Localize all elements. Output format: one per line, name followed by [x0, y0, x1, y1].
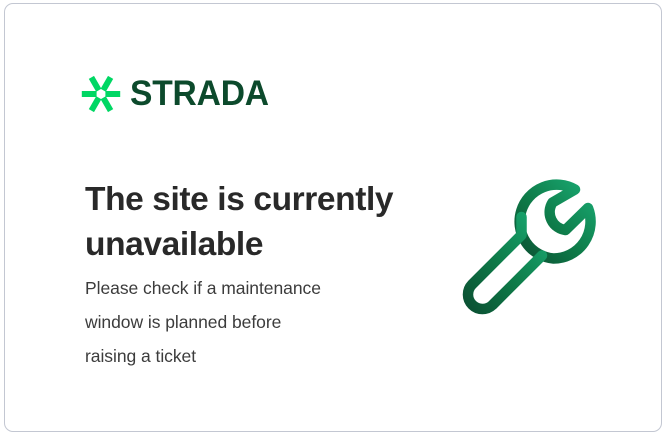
status-card: STRADA The site is currently unavailable… — [4, 3, 662, 432]
page-title: The site is currently unavailable — [85, 177, 425, 267]
description-line: Please check if a maintenance — [85, 271, 405, 305]
brand-lockup: STRADA — [81, 72, 275, 116]
brand-wordmark: STRADA — [130, 76, 269, 113]
wrench-icon — [457, 154, 621, 318]
page-description: Please check if a maintenance window is … — [85, 271, 405, 373]
strada-asterisk-icon — [81, 74, 121, 114]
description-line: raising a ticket — [85, 339, 405, 373]
error-page: STRADA The site is currently unavailable… — [0, 0, 666, 436]
description-line: window is planned before — [85, 305, 405, 339]
